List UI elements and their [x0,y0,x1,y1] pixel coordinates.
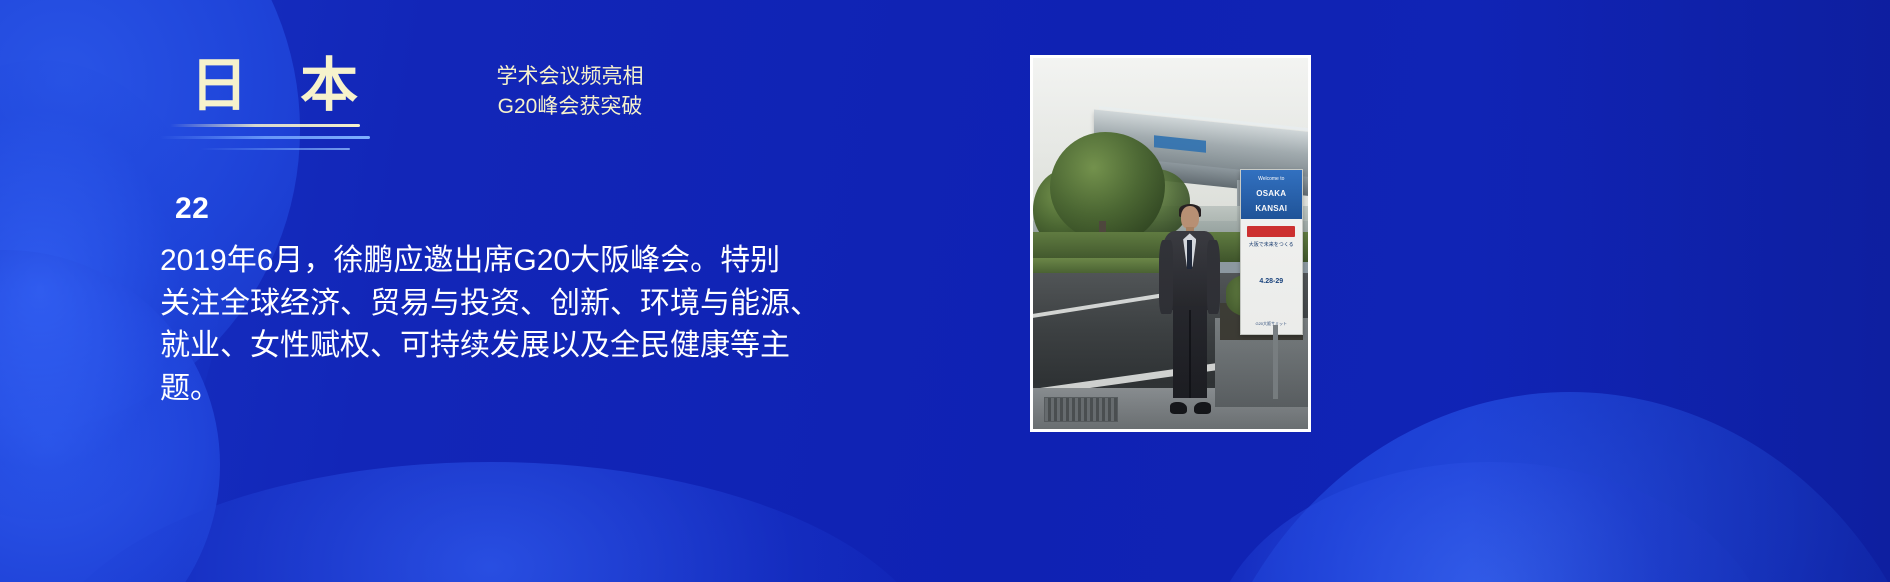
page-title: 日 本 [190,56,520,117]
presentation-slide: 日 本 学术会议频亮相 G20峰会获突破 22 2019年6月，徐鹏应邀出席G2… [0,0,1890,582]
photo-content: Welcome to OSAKA KANSAI 大阪で未来をつくる 4.28-2… [1033,58,1308,429]
subtitle-line-1: 学术会议频亮相 [490,62,650,92]
item-number: 22 [175,192,209,226]
photo-sign-post [1273,325,1278,399]
title-underline-blue-thin [200,148,350,150]
body-line-4: 题。 [160,368,860,411]
title-block: 日 本 [190,56,520,117]
photo-sign-red-bar [1247,226,1295,237]
photo-person-tie [1187,240,1192,269]
photo-person-left-arm [1159,240,1172,315]
decorative-vignette-right [1470,0,1890,582]
photo-sign-date: 4.28-29 [1243,278,1299,285]
photo-sign-japanese-text: 大阪で未来をつくる [1245,242,1298,248]
body-line-2: 关注全球经济、贸易与投资、创新、环境与能源、 [160,283,860,326]
photo-person-head [1181,206,1199,229]
photo-sign-footer: G20大阪サミット [1243,321,1299,327]
photo-welcome-sign: Welcome to OSAKA KANSAI 大阪で未来をつくる 4.28-2… [1240,169,1303,334]
photo-person [1157,206,1223,414]
photo: Welcome to OSAKA KANSAI 大阪で未来をつくる 4.28-2… [1030,55,1311,432]
body-line-3: 就业、女性赋权、可持续发展以及全民健康等主 [160,325,860,368]
photo-sign-osaka-text: OSAKA [1241,190,1302,198]
body-text: 2019年6月，徐鹏应邀出席G20大阪峰会。特别 关注全球经济、贸易与投资、创新… [160,240,860,410]
title-underline-group [160,120,380,156]
photo-person-right-arm [1207,240,1220,315]
photo-person-left-shoe [1170,402,1187,414]
subtitle-line-2: G20峰会获突破 [490,92,650,122]
photo-person-leg-gap [1189,310,1191,397]
photo-person-right-shoe [1194,402,1211,414]
photo-sign-welcome-text: Welcome to [1241,177,1302,182]
title-underline-cream [170,124,360,127]
title-underline-blue [160,136,370,139]
subtitle-block: 学术会议频亮相 G20峰会获突破 [490,62,650,123]
body-line-1: 2019年6月，徐鹏应邀出席G20大阪峰会。特别 [160,240,860,283]
photo-sign-kansai-text: KANSAI [1241,205,1302,213]
photo-drain-grate [1044,397,1118,421]
